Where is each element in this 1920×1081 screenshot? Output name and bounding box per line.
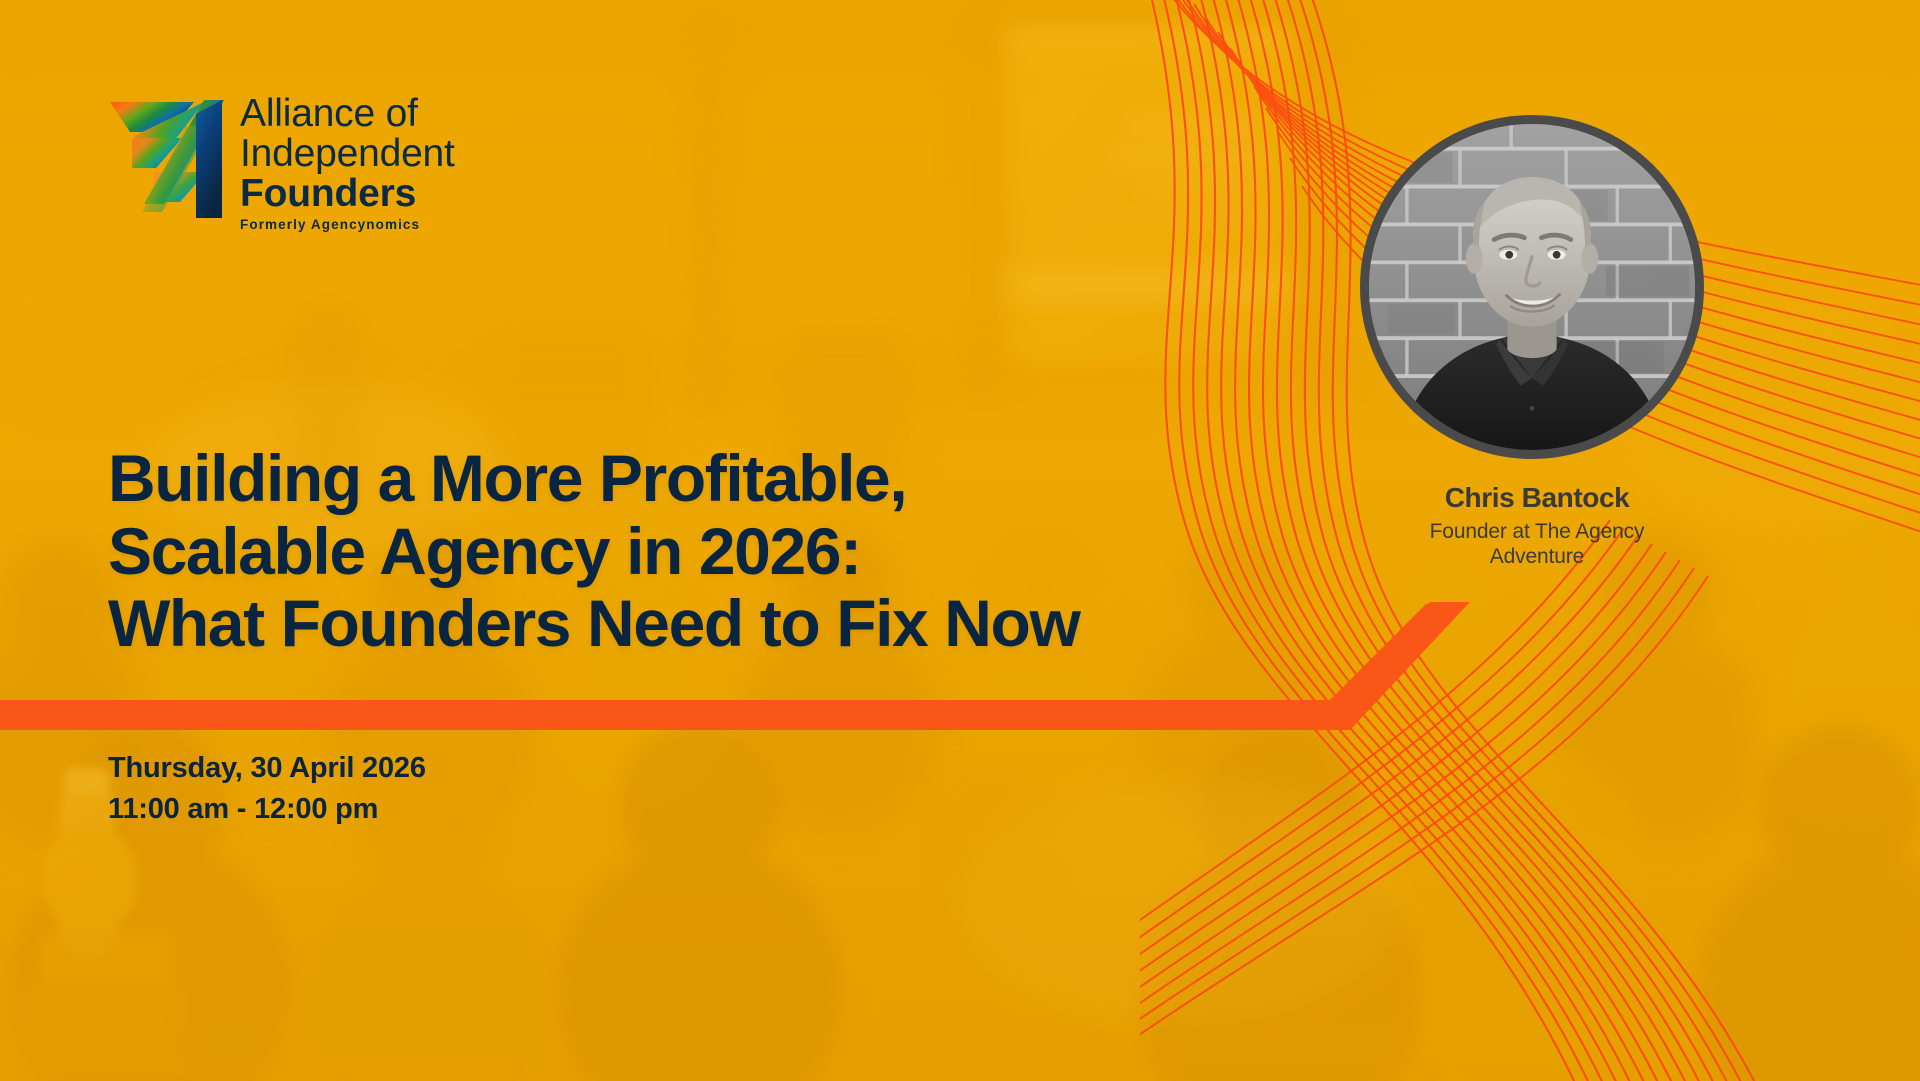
title-line-2: Scalable Agency in 2026: bbox=[108, 515, 1079, 588]
alliance-chevron-mark bbox=[108, 92, 226, 220]
logo-wordmark: Alliance of Independent Founders Formerl… bbox=[240, 92, 455, 232]
logo-tagline: Formerly Agencynomics bbox=[240, 217, 455, 232]
title-line-1: Building a More Profitable, bbox=[108, 442, 1079, 515]
event-datetime: Thursday, 30 April 2026 11:00 am - 12:00… bbox=[108, 748, 426, 830]
speaker-role: Founder at The Agency Adventure bbox=[1417, 519, 1657, 570]
event-time: 11:00 am - 12:00 pm bbox=[108, 789, 426, 830]
brand-logo[interactable]: Alliance of Independent Founders Formerl… bbox=[108, 92, 455, 232]
logo-line-2: Independent bbox=[240, 134, 455, 174]
speaker-info: Chris Bantock Founder at The Agency Adve… bbox=[1417, 481, 1657, 570]
logo-line-3: Founders bbox=[240, 174, 455, 214]
title-line-3: What Founders Need to Fix Now bbox=[108, 587, 1079, 660]
logo-line-1: Alliance of bbox=[240, 94, 455, 134]
webinar-banner: Alliance of Independent Founders Formerl… bbox=[0, 0, 1920, 1081]
speaker-name: Chris Bantock bbox=[1417, 481, 1657, 515]
page-title: Building a More Profitable, Scalable Age… bbox=[108, 442, 1079, 660]
event-date: Thursday, 30 April 2026 bbox=[108, 748, 426, 789]
speaker-portrait-chris-bantock bbox=[1360, 115, 1704, 459]
